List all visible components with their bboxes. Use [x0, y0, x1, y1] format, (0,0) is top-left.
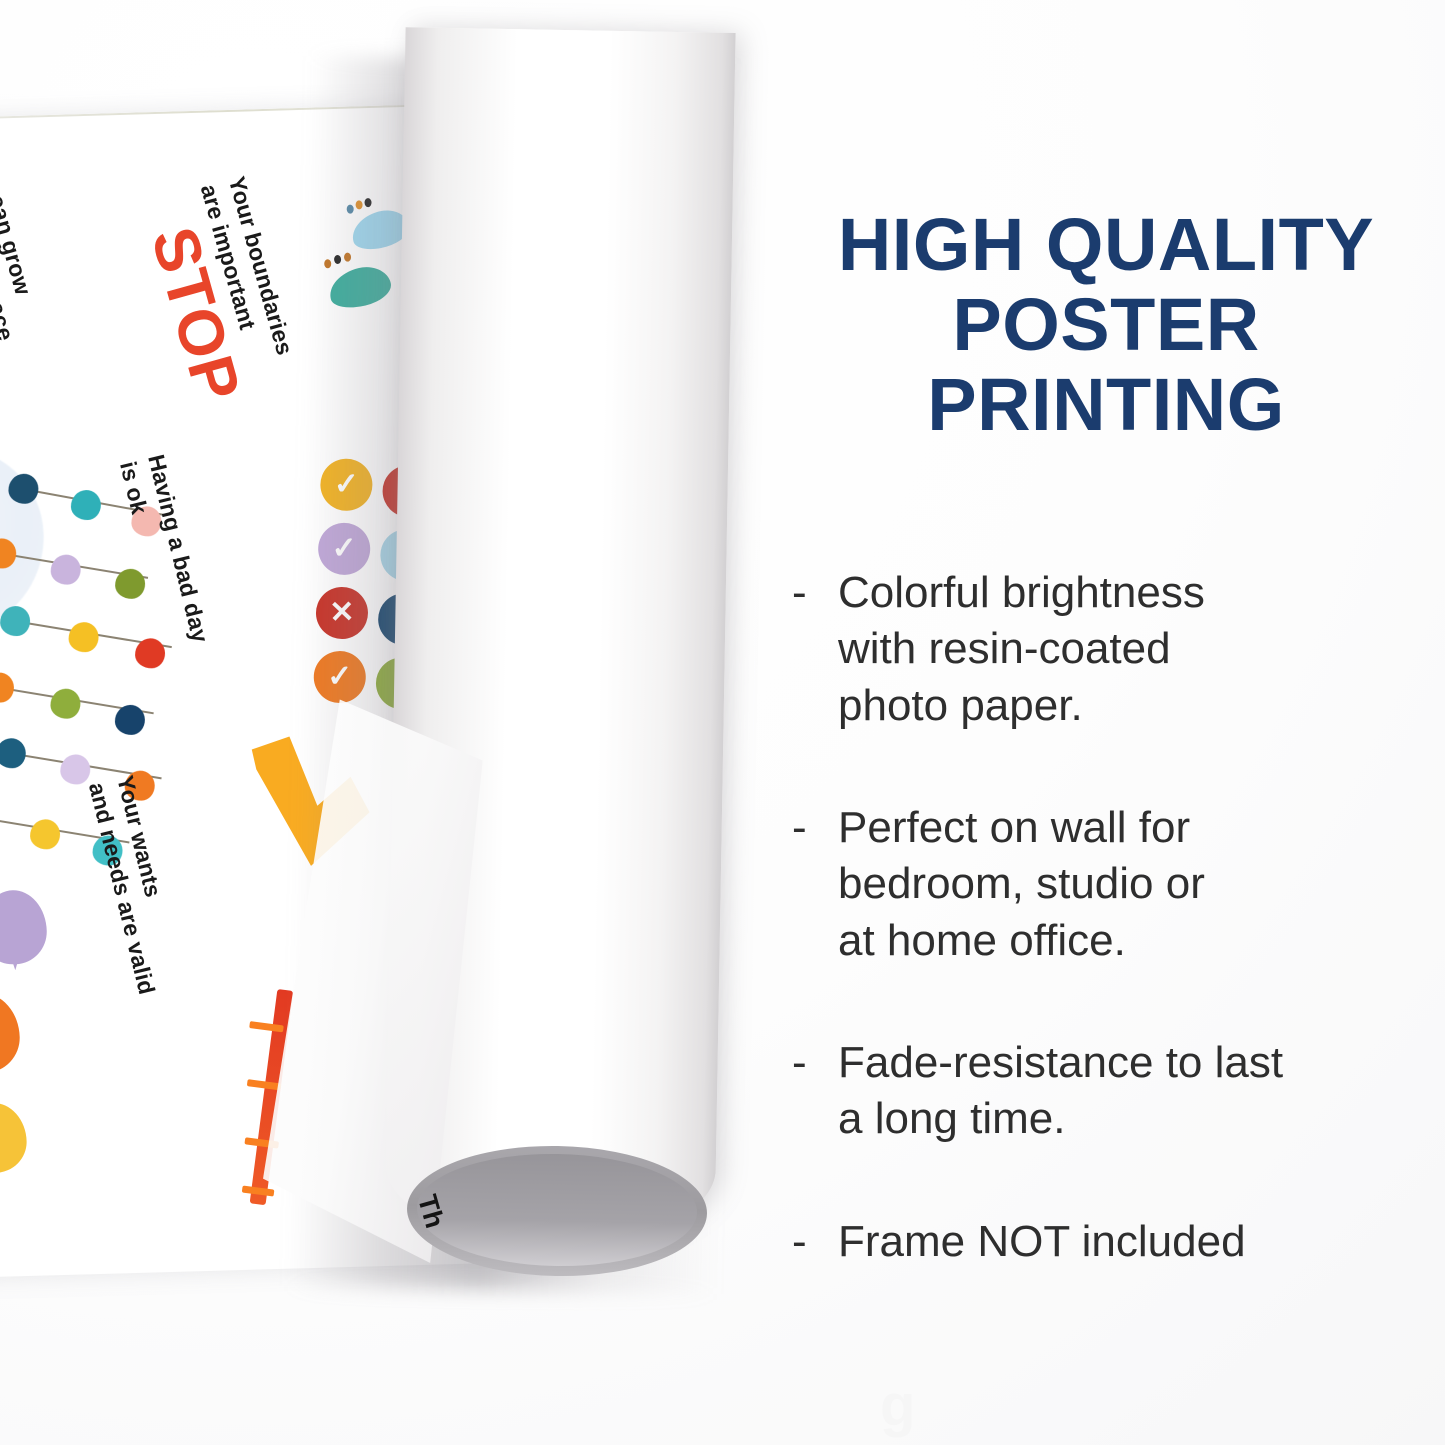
bullet-dash-icon: -	[792, 1035, 838, 1091]
promo-block: HIGH QUALITY POSTER PRINTING	[782, 205, 1430, 445]
poster-caption-grow: You can grow at your own pace	[0, 144, 48, 344]
bullet-dash-icon: -	[792, 565, 838, 621]
poster-caption-bad-day: Having a bad day is ok	[112, 452, 214, 653]
promo-title: HIGH QUALITY POSTER PRINTING	[782, 205, 1430, 445]
poster-caption-wants-needs: Your wants and needs are valid	[81, 773, 189, 998]
feature-item: - Colorful brightness with resin-coated …	[792, 565, 1440, 734]
feature-item: - Frame NOT included	[792, 1214, 1440, 1270]
feature-text: Colorful brightness with resin-coated ph…	[838, 565, 1205, 734]
product-marketing-image: ✓ ✕ ✓ ✕ ✓	[0, 0, 1445, 1445]
feature-text: Perfect on wall for bedroom, studio or a…	[838, 800, 1205, 969]
feature-item: - Fade-resistance to last a long time.	[792, 1035, 1440, 1148]
feature-text: Frame NOT included	[838, 1214, 1246, 1270]
feature-list: - Colorful brightness with resin-coated …	[792, 565, 1440, 1336]
bullet-dash-icon: -	[792, 1214, 838, 1270]
feature-text: Fade-resistance to last a long time.	[838, 1035, 1283, 1148]
feature-item: - Perfect on wall for bedroom, studio or…	[792, 800, 1440, 969]
watermark: g	[880, 1372, 915, 1439]
bullet-dash-icon: -	[792, 800, 838, 856]
